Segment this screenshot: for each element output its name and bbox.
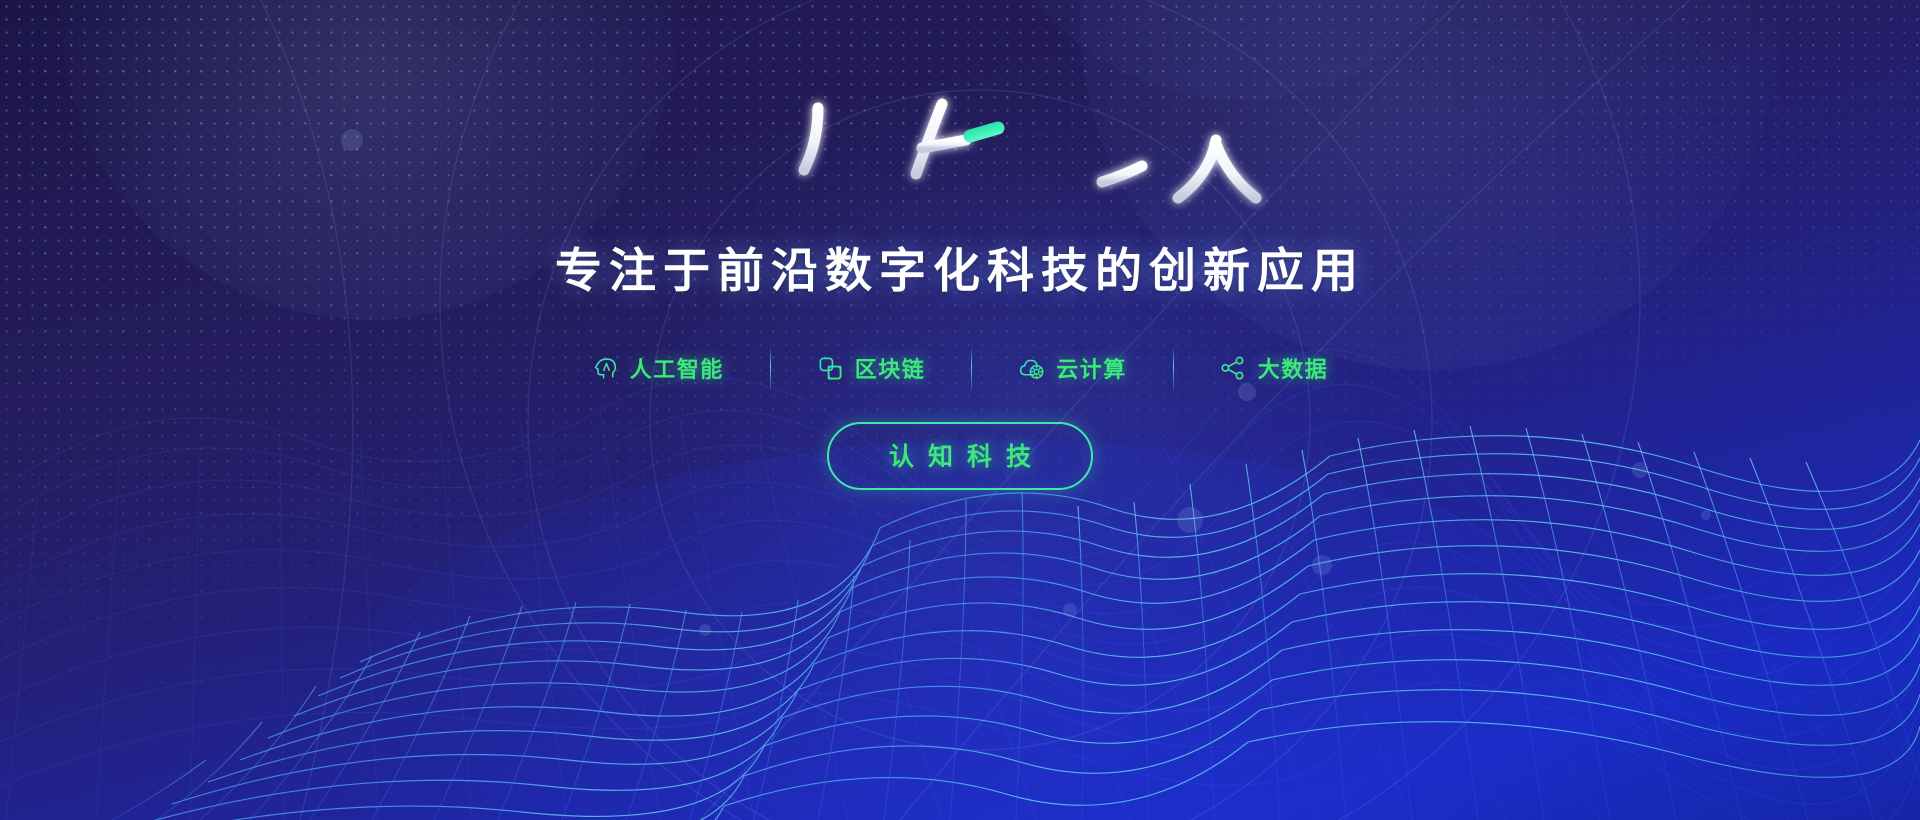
- hero-subtitle: 专注于前沿数字化科技的创新应用: [555, 232, 1365, 301]
- share-nodes-icon: [1220, 355, 1247, 382]
- feature-label-ai: 人工智能: [630, 352, 724, 384]
- feature-item-bigdata[interactable]: 大数据: [1174, 352, 1375, 384]
- ai-head-icon: [592, 355, 619, 382]
- feature-label-blockchain: 区块链: [855, 352, 926, 384]
- feature-list: 人工智能 区块链: [546, 346, 1375, 390]
- hero-content: 专注于前沿数字化科技的创新应用 人工: [0, 0, 1920, 820]
- logo-accent-stroke: [970, 128, 998, 136]
- cta-button[interactable]: 认知科技: [827, 422, 1093, 490]
- hero-banner: 专注于前沿数字化科技的创新应用 人工: [0, 0, 1920, 820]
- feature-item-blockchain[interactable]: 区块链: [771, 352, 972, 384]
- blockchain-icon: [817, 355, 844, 382]
- logo-wordmark: [650, 78, 1270, 210]
- cloud-gear-icon: [1018, 355, 1045, 382]
- feature-label-cloud: 云计算: [1056, 352, 1127, 384]
- feature-label-bigdata: 大数据: [1258, 352, 1329, 384]
- feature-item-ai[interactable]: 人工智能: [546, 352, 770, 384]
- feature-item-cloud[interactable]: 云计算: [972, 352, 1173, 384]
